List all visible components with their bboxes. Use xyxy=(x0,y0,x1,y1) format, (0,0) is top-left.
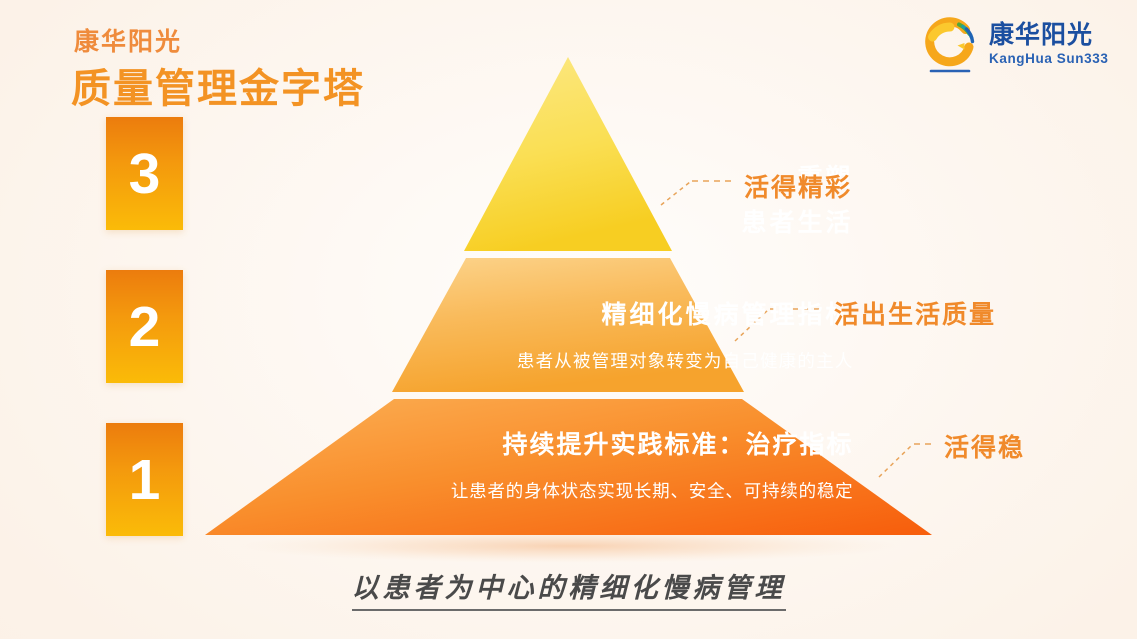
tier-3-title-line2: 患者生活 xyxy=(741,203,853,239)
footer-caption: 以患者为中心的精细化慢病管理 xyxy=(0,566,1137,611)
logo-text: 康华阳光 KangHua Sun333 xyxy=(989,22,1119,66)
logo: 康华阳光 KangHua Sun333 xyxy=(919,14,1119,80)
tier-2-title: 精细化慢病管理指标 xyxy=(601,295,853,331)
page-title: 质量管理金字塔 xyxy=(71,56,365,114)
callout-level-1: 活得稳 xyxy=(944,428,1025,464)
tier-2-subtitle: 患者从被管理对象转变为自己健康的主人 xyxy=(517,348,854,373)
brand-kicker: 康华阳光 xyxy=(74,22,182,58)
tier-1-subtitle: 让患者的身体状态实现长期、安全、可持续的稳定 xyxy=(451,478,854,503)
slide-canvas: 康华阳光 质量管理金字塔 康华阳光 KangHua Sun333 3 2 xyxy=(0,0,1137,639)
callout-level-3: 活得精彩 xyxy=(744,168,852,204)
pyramid-shadow xyxy=(239,529,899,563)
callout-level-2: 活出生活质量 xyxy=(834,295,996,331)
logo-name-en: KangHua Sun333 xyxy=(989,51,1119,66)
footer-caption-text: 以患者为中心的精细化慢病管理 xyxy=(352,566,786,611)
tier-1-title: 持续提升实践标准：治疗指标 xyxy=(502,425,853,461)
ring-logo-icon xyxy=(919,16,981,78)
logo-name-cn: 康华阳光 xyxy=(989,22,1119,48)
tier-3-text: 重塑 患者生活 xyxy=(0,158,1137,239)
